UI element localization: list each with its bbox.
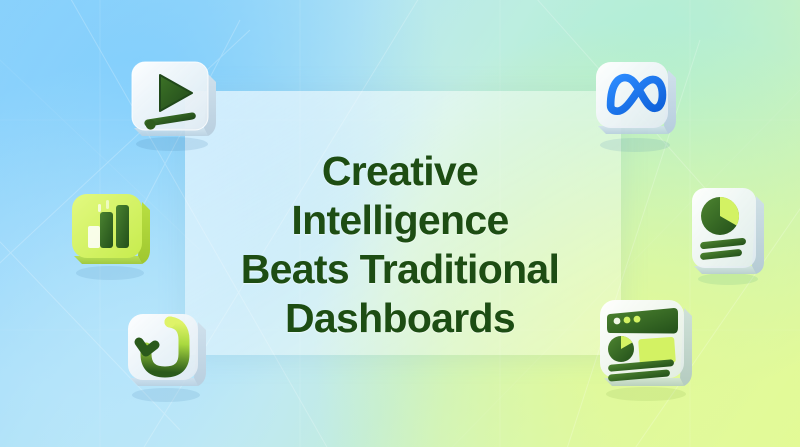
fishing-hook-icon	[112, 296, 220, 404]
meta-logo-icon	[580, 44, 690, 154]
pie-chart-report-icon	[678, 178, 778, 288]
dashboard-window-icon	[586, 286, 706, 404]
hero-banner: Creative Intelligence Beats Traditional …	[0, 0, 800, 447]
bar-chart-icon	[58, 178, 162, 282]
play-button-icon	[120, 48, 224, 152]
